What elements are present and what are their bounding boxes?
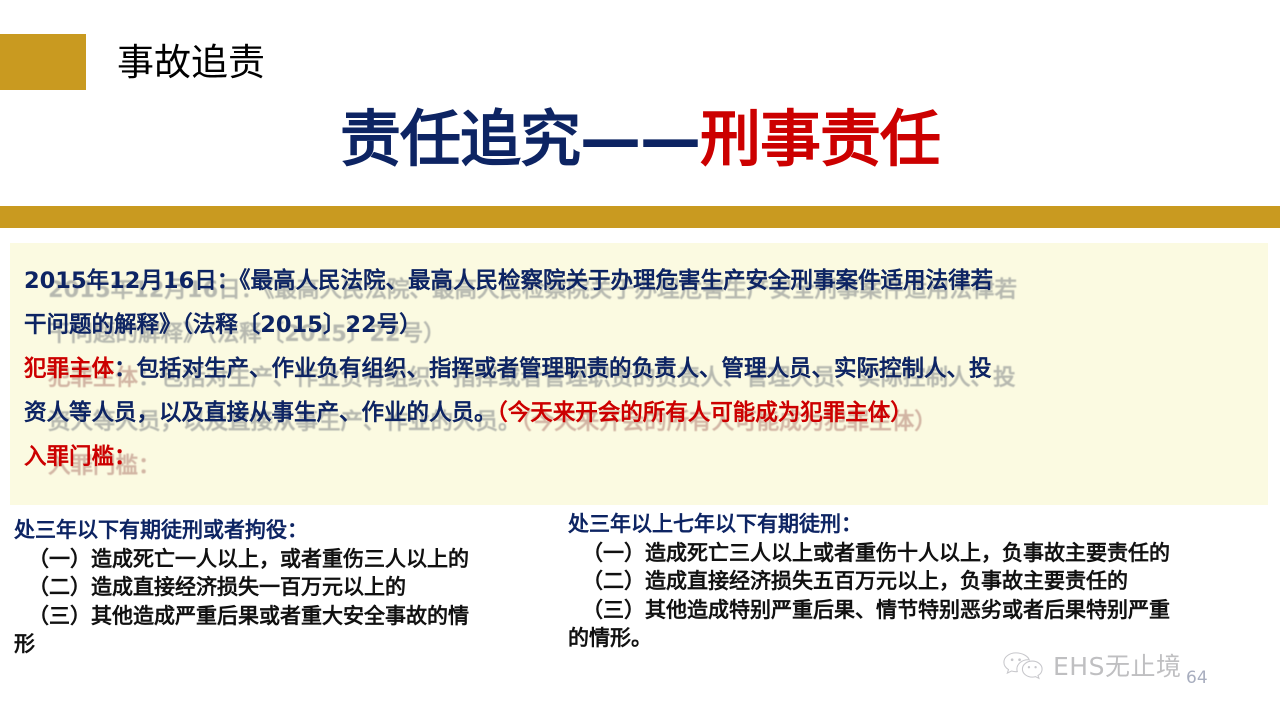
panel-text-layer: 2015年12月16日：《最高人民法院、最高人民检察院关于办理危害生产安全刑事案… [10,243,1268,479]
list-item-continuation: 形 [14,630,570,659]
panel-line: 犯罪主体：包括对生产、作业负有组织、指挥或者管理职责的负责人、管理人员、实际控制… [24,347,1268,391]
list-item: （二）造成直接经济损失一百万元以上的 [14,573,570,602]
panel-text-segment: 入罪门槛： [24,444,137,470]
panel-text-segment: 干问题的解释》（法释〔2015〕22号） [24,312,422,338]
list-item: （二）造成直接经济损失五百万元以上，负事故主要责任的 [568,567,1268,596]
panel-line: 资人等人员，以及直接从事生产、作业的人员。（今天来开会的所有人可能成为犯罪主体） [24,391,1268,435]
list-item: （三）其他造成特别严重后果、情节特别恶劣或者后果特别严重 [568,596,1268,625]
penalty-column-three-to-seven-years: 处三年以上七年以下有期徒刑： （一）造成死亡三人以上或者重伤十人以上，负事故主要… [568,510,1268,653]
wechat-icon [1002,650,1044,684]
panel-text-segment: ：包括对生产、作业负有组织、指挥或者管理职责的负责人、管理人员、实际控制人、投 [114,356,992,382]
page-title: 责任追究——刑事责任 [0,104,1280,176]
page-title-red: 刑事责任 [700,104,940,175]
watermark-brand: EHS无止境 [1053,652,1181,682]
list-item: （三）其他造成严重后果或者重大安全事故的情 [14,602,570,631]
panel-text-segment: 资人等人员，以及直接从事生产、作业的人员。 [24,400,497,426]
panel-text-segment: 2015年12月16日：《最高人民法院、最高人民检察院关于办理危害生产安全刑事案… [24,268,993,294]
column-heading: 处三年以下有期徒刑或者拘役： [14,516,570,545]
panel-text-segment: （今天来开会的所有人可能成为犯罪主体） [497,400,913,426]
panel-line: 2015年12月16日：《最高人民法院、最高人民检察院关于办理危害生产安全刑事案… [24,259,1268,303]
panel-text-segment: 犯罪主体 [24,356,114,382]
list-item: （一）造成死亡一人以上，或者重伤三人以上的 [14,545,570,574]
panel-line: 干问题的解释》（法释〔2015〕22号） [24,303,1268,347]
watermark: EHS无止境 [1002,650,1181,684]
page-kicker: 事故追责 [117,39,265,86]
penalty-column-under-three-years: 处三年以下有期徒刑或者拘役： （一）造成死亡一人以上，或者重伤三人以上的 （二）… [14,516,570,659]
header-accent-square [0,34,86,90]
slide: 事故追责 责任追究——刑事责任 2015年12月16日：《最高人民法院、最高人民… [0,0,1280,720]
gold-divider-bar [0,206,1280,228]
panel-line: 入罪门槛： [24,435,1268,479]
list-item: （一）造成死亡三人以上或者重伤十人以上，负事故主要责任的 [568,539,1268,568]
column-heading: 处三年以上七年以下有期徒刑： [568,510,1268,539]
legal-citation-panel: 2015年12月16日：《最高人民法院、最高人民检察院关于办理危害生产安全刑事案… [10,243,1268,505]
page-title-navy: 责任追究—— [340,104,700,175]
list-item-continuation: 的情形。 [568,624,1268,653]
slide-number: 64 [1186,668,1208,688]
